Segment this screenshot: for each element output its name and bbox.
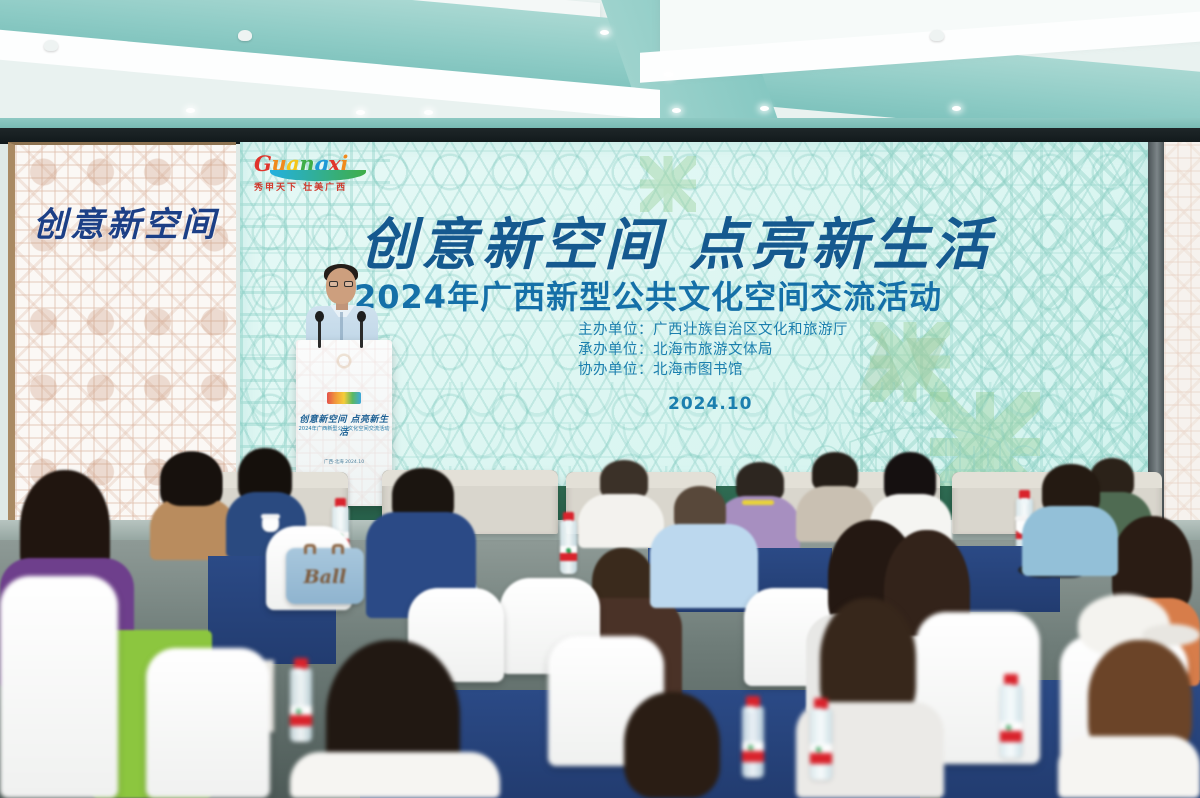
water-bottle bbox=[1000, 684, 1022, 758]
conference-photo: 创意新空间 Guangxi 秀甲天下 壮美广西 bbox=[0, 0, 1200, 798]
attendee-torso bbox=[150, 498, 236, 560]
bottle-label bbox=[810, 744, 832, 764]
chair bbox=[146, 648, 270, 798]
downlight-icon bbox=[672, 108, 681, 113]
bottle-neck bbox=[747, 706, 754, 712]
podium-subtitle: 2024年广西新型公共文化空间交流活动 bbox=[296, 425, 392, 432]
organizer-line: 主办单位：广西壮族自治区文化和旅游厅 bbox=[578, 320, 848, 340]
guangxi-logo: Guangxi 秀甲天下 壮美广西 bbox=[254, 152, 382, 193]
downlight-icon bbox=[600, 30, 609, 35]
bottle-logo-icon bbox=[816, 747, 821, 752]
screen-main-title: 创意新空间 点亮新生活 bbox=[360, 200, 1120, 281]
microphone-stem bbox=[360, 318, 363, 348]
lanyard bbox=[742, 500, 774, 505]
water-bottle bbox=[290, 668, 312, 742]
handbag: Ball bbox=[286, 548, 364, 604]
organizer-line: 协办单位：北海市图书馆 bbox=[578, 360, 848, 380]
organizer-line: 承办单位：北海市旅游文体局 bbox=[578, 340, 848, 360]
downlight-icon bbox=[664, 72, 673, 77]
podium-logo-icon bbox=[327, 392, 361, 404]
microphone-head-icon bbox=[357, 311, 366, 322]
attendee-torso bbox=[1058, 736, 1200, 798]
cup-lid bbox=[261, 514, 280, 519]
bag-handle bbox=[332, 544, 344, 554]
attendee-torso bbox=[1022, 506, 1118, 576]
right-wall-panel bbox=[1164, 142, 1200, 562]
bag-label: Ball bbox=[286, 566, 364, 588]
bottle-neck bbox=[815, 708, 822, 714]
bottle-logo-icon bbox=[1006, 725, 1011, 730]
podium-footer: 广西·北海 2024.10 bbox=[296, 460, 392, 466]
bottle-neck bbox=[565, 520, 572, 526]
attendee-torso bbox=[290, 752, 500, 798]
water-bottle bbox=[560, 520, 577, 574]
attendee-torso bbox=[650, 524, 758, 608]
chair bbox=[0, 576, 118, 798]
tea-cup bbox=[262, 518, 279, 532]
logo-tagline: 秀甲天下 壮美广西 bbox=[254, 180, 382, 193]
water-bottle bbox=[810, 708, 832, 780]
bottle-logo-icon bbox=[296, 709, 301, 714]
bottle-logo-icon bbox=[566, 548, 571, 553]
screen-date: 2024.10 bbox=[668, 394, 752, 414]
bag-handle bbox=[304, 544, 316, 554]
glasses-icon bbox=[329, 281, 353, 287]
attendee-hair bbox=[162, 452, 222, 506]
left-panel-title: 创意新空间 bbox=[15, 197, 236, 246]
bottle-neck bbox=[295, 668, 302, 674]
downlight-icon bbox=[760, 106, 769, 111]
bottle-neck bbox=[1021, 498, 1028, 504]
ceiling bbox=[0, 0, 1200, 132]
bottle-label bbox=[290, 706, 312, 726]
downlight-icon bbox=[424, 110, 433, 115]
podium-rosette-motif bbox=[329, 350, 359, 372]
smoke-detector-icon bbox=[930, 30, 944, 41]
smoke-detector-icon bbox=[44, 40, 58, 51]
brocade-pattern bbox=[1164, 142, 1200, 562]
downlight-icon bbox=[952, 106, 961, 111]
attendee-hair bbox=[624, 692, 720, 798]
microphone-stem bbox=[318, 318, 321, 348]
water-bottle bbox=[742, 706, 764, 778]
bottle-neck bbox=[1005, 684, 1012, 690]
bottle-label bbox=[742, 742, 764, 762]
downlight-icon bbox=[186, 108, 195, 113]
screen-subtitle: 2024年广西新型公共文化空间交流活动 bbox=[354, 272, 1144, 318]
downlight-icon bbox=[356, 110, 365, 115]
bottle-label bbox=[1000, 722, 1022, 742]
microphone-head-icon bbox=[315, 311, 324, 322]
attendee-torso bbox=[578, 494, 664, 548]
bottle-neck bbox=[337, 506, 344, 512]
smoke-detector-icon bbox=[238, 30, 252, 41]
screen-organizers: 主办单位：广西壮族自治区文化和旅游厅 承办单位：北海市旅游文体局 协办单位：北海… bbox=[578, 320, 848, 380]
bottle-logo-icon bbox=[748, 745, 753, 750]
